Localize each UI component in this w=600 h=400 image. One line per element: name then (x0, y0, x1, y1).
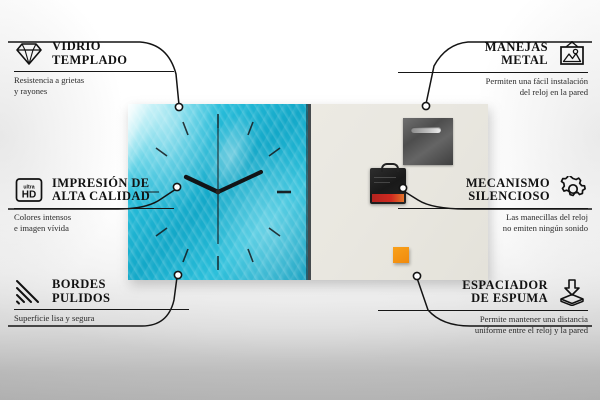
gear-icon (558, 176, 588, 204)
mechanism-hanger-tab (381, 163, 399, 172)
feature-vidrio-templado[interactable]: VIDRIO TEMPLADO Resistencia a grietas y … (14, 40, 174, 96)
hanger-slot (411, 127, 441, 133)
feature-impresion-alta-calidad[interactable]: ultra HD IMPRESIÓN DE ALTA CALIDAD Color… (14, 176, 174, 233)
feature-title: ESPACIADOR DE ESPUMA (462, 279, 548, 306)
diamond-icon (14, 41, 44, 67)
panel-seam (308, 104, 311, 280)
diagonal-stripes-icon (14, 278, 44, 305)
feature-header: VIDRIO TEMPLADO (14, 40, 174, 67)
feature-rule (398, 72, 588, 73)
feature-title: MECANISMO SILENCIOSO (466, 177, 550, 204)
feature-title: BORDES PULIDOS (52, 278, 110, 305)
infographic-canvas: VIDRIO TEMPLADO Resistencia a grietas y … (0, 0, 600, 400)
feature-mecanismo-silencioso[interactable]: MECANISMO SILENCIOSO Las manecillas del … (398, 176, 588, 233)
mechanism-detail-line-2 (374, 182, 390, 183)
feature-header: MANEJAS METAL (398, 40, 588, 68)
foam-spacer (393, 247, 409, 263)
feature-title: MANEJAS METAL (485, 41, 548, 68)
feature-rule (398, 208, 588, 209)
feature-rule (14, 309, 189, 310)
feature-rule (378, 310, 588, 311)
ultra-hd-icon-large-text: HD (22, 190, 36, 201)
feature-rule (14, 71, 174, 72)
arrow-onto-pad-icon (556, 278, 588, 306)
feature-description: Colores intensos e imagen vívida (14, 212, 174, 233)
feature-manejas-metal[interactable]: MANEJAS METAL Permiten una fácil instala… (398, 40, 588, 97)
hanger-plate (403, 118, 453, 165)
framed-picture-icon (556, 40, 588, 68)
feature-description: Permite mantener una distancia uniforme … (378, 314, 588, 335)
mechanism-detail-line-1 (374, 177, 396, 178)
feature-header: ESPACIADOR DE ESPUMA (378, 278, 588, 306)
feature-header: MECANISMO SILENCIOSO (398, 176, 588, 204)
feature-description: Superficie lisa y segura (14, 313, 189, 323)
feature-header: ultra HD IMPRESIÓN DE ALTA CALIDAD (14, 176, 174, 204)
feature-title: IMPRESIÓN DE ALTA CALIDAD (52, 177, 150, 204)
feature-description: Resistencia a grietas y rayones (14, 75, 174, 96)
feature-title: VIDRIO TEMPLADO (52, 40, 127, 67)
ultra-hd-icon: ultra HD (14, 176, 44, 204)
feature-header: BORDES PULIDOS (14, 278, 189, 305)
feature-description: Las manecillas del reloj no emiten ningú… (398, 212, 588, 233)
feature-rule (14, 208, 174, 209)
feature-description: Permiten una fácil instalación del reloj… (398, 76, 588, 97)
feature-bordes-pulidos[interactable]: BORDES PULIDOS Superficie lisa y segura (14, 278, 189, 324)
feature-espaciador-espuma[interactable]: ESPACIADOR DE ESPUMA Permite mantener un… (378, 278, 588, 335)
